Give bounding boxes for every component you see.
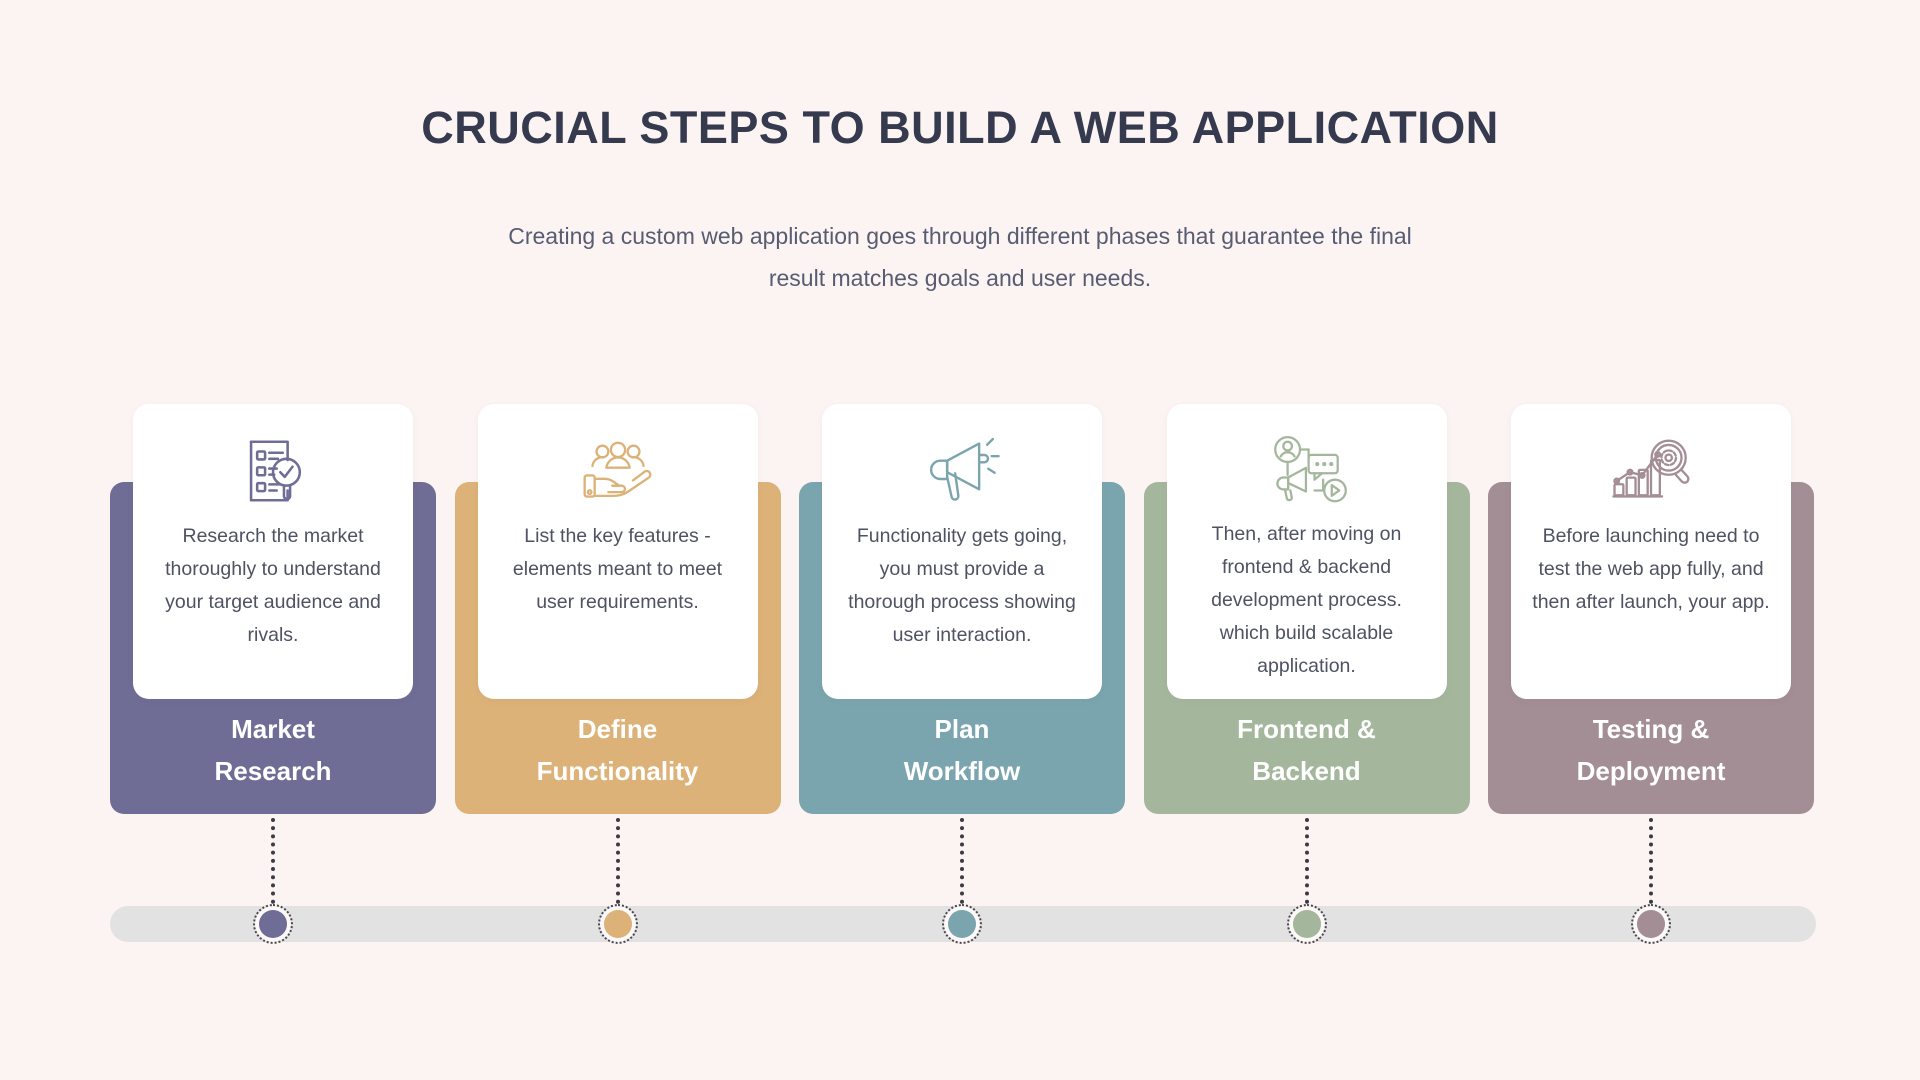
step-card[interactable]: List the key features - elements meant t…: [478, 404, 758, 699]
step-label: Frontend & Backend: [1144, 708, 1470, 814]
hand-holding-users-icon: [578, 432, 658, 510]
infographic-canvas: CRUCIAL STEPS TO BUILD A WEB APPLICATION…: [0, 0, 1920, 1080]
timeline-dot[interactable]: [1289, 906, 1325, 942]
step-label: Plan Workflow: [799, 708, 1125, 814]
timeline-dot-fill: [1637, 910, 1665, 938]
step-label: Market Research: [110, 708, 436, 814]
step-card[interactable]: Functionality gets going, you must provi…: [822, 404, 1102, 699]
step-card[interactable]: Research the market thoroughly to unders…: [133, 404, 413, 699]
step-card[interactable]: Before launching need to test the web ap…: [1511, 404, 1791, 699]
timeline-dot[interactable]: [1633, 906, 1669, 942]
step-description: Research the market thoroughly to unders…: [151, 520, 395, 652]
step-label: Define Functionality: [455, 708, 781, 814]
step-connector-line: [271, 818, 275, 912]
step-connector-line: [1305, 818, 1309, 912]
step-description: List the key features - elements meant t…: [496, 520, 740, 619]
step-connector-line: [960, 818, 964, 912]
step-description: Functionality gets going, you must provi…: [840, 520, 1084, 652]
step-connector-line: [1649, 818, 1653, 912]
step-card[interactable]: Then, after moving on frontend & backend…: [1167, 404, 1447, 699]
megaphone-icon: [922, 432, 1002, 510]
step-label: Testing & Deployment: [1488, 708, 1814, 814]
timeline-dot[interactable]: [255, 906, 291, 942]
timeline-dot[interactable]: [600, 906, 636, 942]
bar-chart-magnifier-gear-icon: [1609, 432, 1693, 510]
step-description: Then, after moving on frontend & backend…: [1185, 518, 1429, 683]
step-connector-line: [616, 818, 620, 912]
checklist-magnifier-icon: [234, 432, 312, 510]
timeline-dot-fill: [604, 910, 632, 938]
user-chat-megaphone-play-icon: [1265, 432, 1349, 508]
timeline-dot-fill: [259, 910, 287, 938]
step-description: Before launching need to test the web ap…: [1529, 520, 1773, 619]
timeline-dot-fill: [1293, 910, 1321, 938]
timeline-dot-fill: [948, 910, 976, 938]
timeline-dot[interactable]: [944, 906, 980, 942]
